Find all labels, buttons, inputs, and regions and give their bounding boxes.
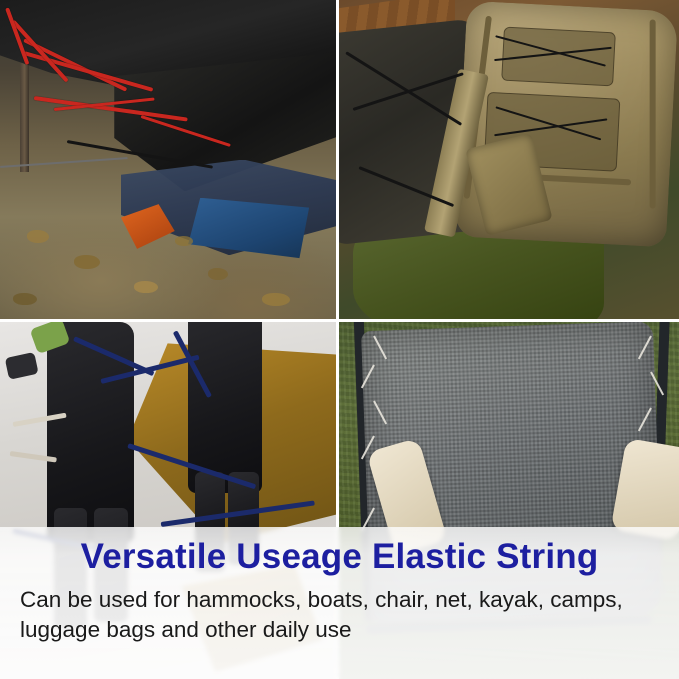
leaf-litter (27, 230, 49, 243)
leaf-litter (208, 268, 228, 280)
leaf-litter (74, 255, 100, 269)
leaf-litter (134, 281, 158, 293)
leaf-litter (175, 236, 193, 246)
tactical-backpack-gear-photo (339, 0, 679, 322)
banner-headline: Versatile Useage Elastic String (18, 537, 661, 577)
hammock-tarp-forest-photo (0, 0, 339, 322)
banner-subline: Can be used for hammocks, boats, chair, … (18, 585, 661, 645)
product-image: Versatile Useage Elastic String Can be u… (0, 0, 679, 679)
backpack-strap (650, 20, 656, 209)
tree-trunk-icon (20, 57, 29, 172)
text-banner: Versatile Useage Elastic String Can be u… (0, 527, 679, 679)
